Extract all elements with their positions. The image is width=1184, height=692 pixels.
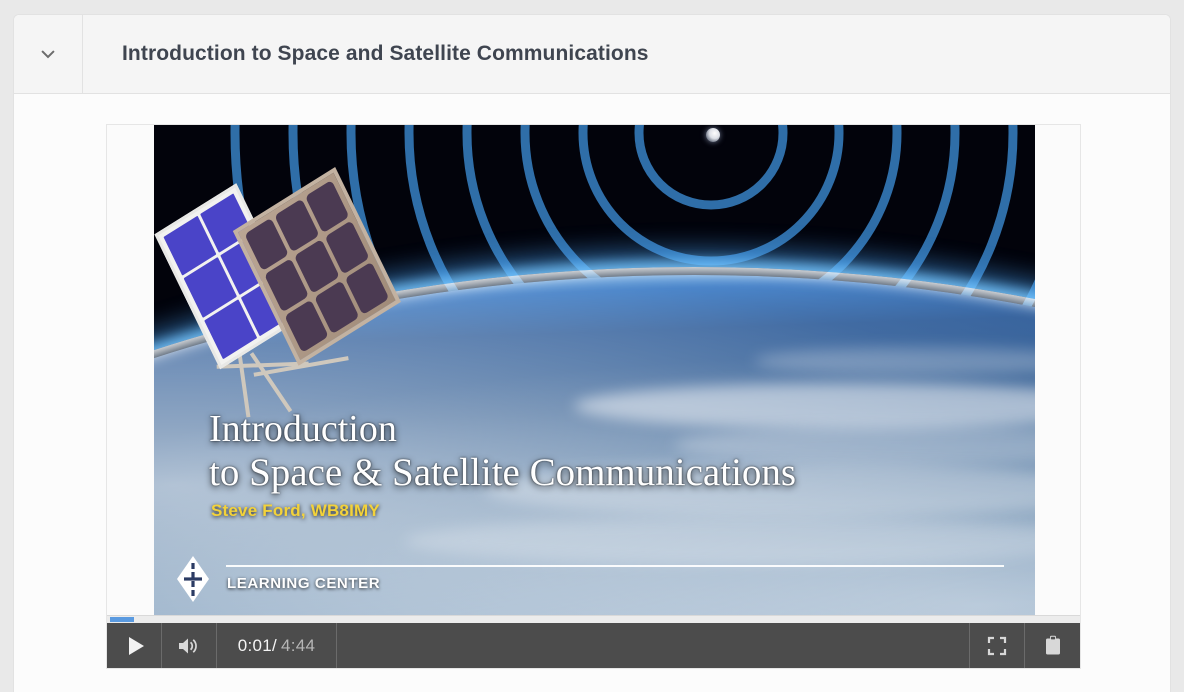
fullscreen-icon: [987, 636, 1007, 656]
card-header-title-cell: Introduction to Space and Satellite Comm…: [83, 15, 1170, 93]
lesson-card: Introduction to Space and Satellite Comm…: [13, 14, 1171, 692]
brand-rule: [226, 565, 1004, 567]
card-header: Introduction to Space and Satellite Comm…: [14, 15, 1170, 94]
poster-title-line1: Introduction: [209, 407, 796, 451]
chevron-down-icon: [39, 45, 57, 63]
play-icon: [129, 637, 144, 655]
play-button[interactable]: [107, 623, 162, 668]
poster-byline: Steve Ford, WB8IMY: [211, 501, 380, 521]
poster-title: Introduction to Space & Satellite Commun…: [209, 407, 796, 495]
progress-bar[interactable]: [107, 615, 1080, 623]
fullscreen-button[interactable]: [970, 623, 1025, 668]
controls-spacer: [337, 623, 970, 668]
volume-on-icon: [177, 636, 201, 656]
progress-fill: [110, 617, 134, 622]
duration: 4:44: [277, 636, 315, 656]
arrl-diamond-logo-icon: [176, 555, 210, 603]
page-root: Introduction to Space and Satellite Comm…: [0, 0, 1184, 692]
time-display: 0:01 / 4:44: [217, 623, 337, 668]
video-stage[interactable]: Introduction to Space & Satellite Commun…: [154, 125, 1035, 615]
poster-title-line2: to Space & Satellite Communications: [209, 451, 796, 495]
page-title: Introduction to Space and Satellite Comm…: [122, 42, 649, 66]
transcript-button[interactable]: [1025, 623, 1080, 668]
volume-button[interactable]: [162, 623, 217, 668]
video-player[interactable]: Introduction to Space & Satellite Commun…: [106, 124, 1081, 669]
clipboard-icon: [1043, 635, 1063, 657]
current-time: 0:01: [238, 636, 272, 656]
card-body: Introduction to Space & Satellite Commun…: [14, 94, 1170, 692]
brand-lockup: LEARNING CENTER: [176, 553, 1006, 605]
collapse-toggle-button[interactable]: [14, 15, 83, 93]
player-controls: 0:01 / 4:44: [107, 623, 1080, 668]
brand-name: LEARNING CENTER: [227, 575, 380, 592]
